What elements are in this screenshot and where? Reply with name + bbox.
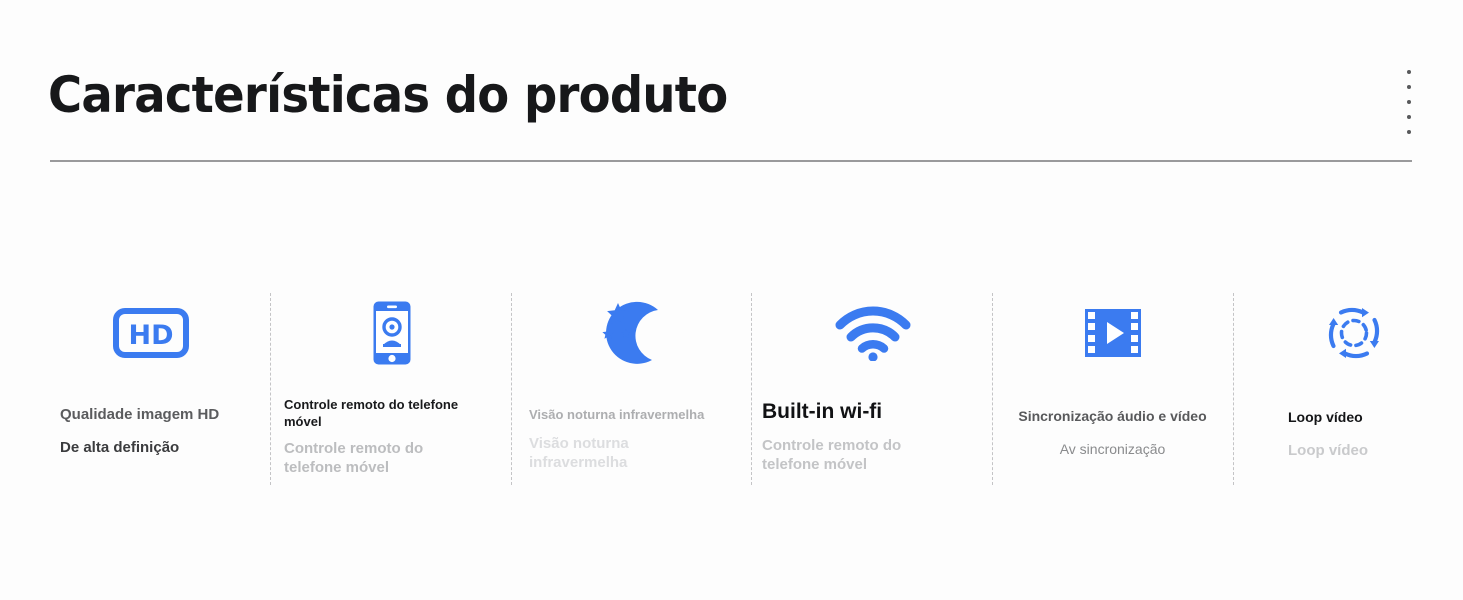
dot-2 <box>1407 85 1411 89</box>
product-features-row: HD Qualidade imagem HD De alta definição… <box>0 285 1463 490</box>
dot-4 <box>1407 115 1411 119</box>
dot-1 <box>1407 70 1411 74</box>
feature-title: Built-in wi-fi <box>762 399 993 426</box>
feature-subtitle: Av sincronização <box>992 441 1233 459</box>
feature-subtitle: Loop vídeo <box>1288 441 1463 460</box>
phone-camera-icon <box>271 297 512 369</box>
feature-title: Sincronização áudio e vídeo <box>992 408 1233 426</box>
feature-text-block: Loop vídeo Loop vídeo <box>1233 409 1463 460</box>
feature-title: Qualidade imagem HD <box>60 405 271 424</box>
feature-title: Loop vídeo <box>1288 409 1463 427</box>
page-title: Características do produto <box>48 70 727 120</box>
page-header: Características do produto <box>0 0 1463 175</box>
feature-subtitle: Visão noturna infravermelha <box>529 434 679 472</box>
feature-text-block: Controle remoto do telefone móvel Contro… <box>271 397 512 478</box>
moon-stars-icon <box>511 297 752 369</box>
svg-text:HD: HD <box>128 320 173 351</box>
feature-item-hd-quality: HD Qualidade imagem HD De alta definição <box>30 285 271 490</box>
wifi-icon <box>752 297 993 369</box>
feature-text-block: Built-in wi-fi Controle remoto do telefo… <box>752 399 993 474</box>
film-play-icon <box>992 297 1233 369</box>
loop-arrows-icon <box>1233 297 1463 369</box>
feature-item-loop-video: Loop vídeo Loop vídeo <box>1233 285 1463 490</box>
feature-subtitle: De alta definição <box>60 438 271 457</box>
feature-title: Visão noturna infravermelha <box>529 407 752 424</box>
dot-5 <box>1407 130 1411 134</box>
feature-title: Controle remoto do telefone móvel <box>284 397 494 430</box>
feature-text-block: Sincronização áudio e vídeo Av sincroniz… <box>992 408 1233 459</box>
feature-subtitle: Controle remoto do telefone móvel <box>762 436 917 474</box>
hd-badge-icon: HD <box>30 297 271 369</box>
title-divider-rule <box>50 160 1412 162</box>
feature-text-block: Qualidade imagem HD De alta definição <box>30 405 271 457</box>
dot-3 <box>1407 100 1411 104</box>
feature-item-phone-remote: Controle remoto do telefone móvel Contro… <box>271 285 512 490</box>
vertical-dots-icon[interactable] <box>1403 70 1415 134</box>
feature-text-block: Visão noturna infravermelha Visão noturn… <box>511 407 752 472</box>
feature-item-night-vision: Visão noturna infravermelha Visão noturn… <box>511 285 752 490</box>
feature-item-av-sync: Sincronização áudio e vídeo Av sincroniz… <box>992 285 1233 490</box>
feature-subtitle: Controle remoto do telefone móvel <box>284 439 464 477</box>
feature-item-builtin-wifi: Built-in wi-fi Controle remoto do telefo… <box>752 285 993 490</box>
